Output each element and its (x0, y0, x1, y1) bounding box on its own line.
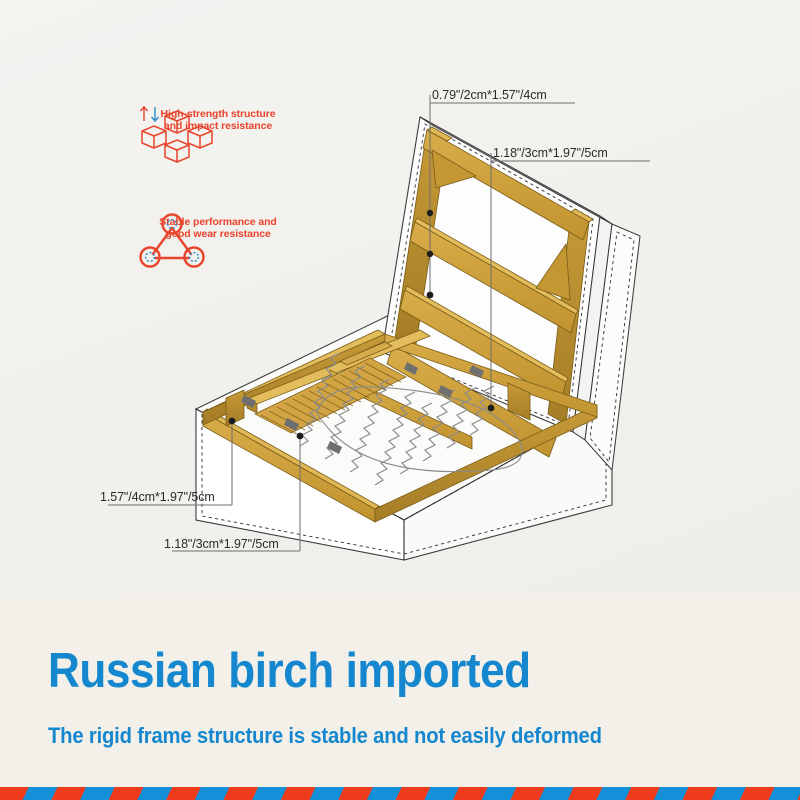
banner-subheadline: The rigid frame structure is stable and … (48, 725, 602, 747)
banner-headline: Russian birch imported (48, 647, 531, 696)
illustration-stage: High-strength structure and impact resis… (0, 0, 800, 597)
dimension-label-top-1: 0.79"/2cm*1.57"/4cm (432, 88, 547, 102)
feature-high-strength: High-strength structure and impact resis… (133, 104, 303, 133)
triangle-nodes-icon (133, 212, 211, 270)
striped-footer-band (0, 787, 800, 800)
marketing-banner: Russian birch imported The rigid frame s… (0, 597, 800, 787)
dimension-label-bottom-1: 1.57"/4cm*1.97"/5cm (100, 490, 215, 504)
cubes-impact-icon (133, 104, 225, 164)
bed-frame-diagram (0, 0, 800, 597)
feature-stable-performance: Stable performance and good wear resista… (133, 212, 303, 241)
dimension-label-top-2: 1.18"/3cm*1.97"/5cm (493, 146, 608, 160)
dimension-label-bottom-2: 1.18"/3cm*1.97"/5cm (164, 537, 279, 551)
